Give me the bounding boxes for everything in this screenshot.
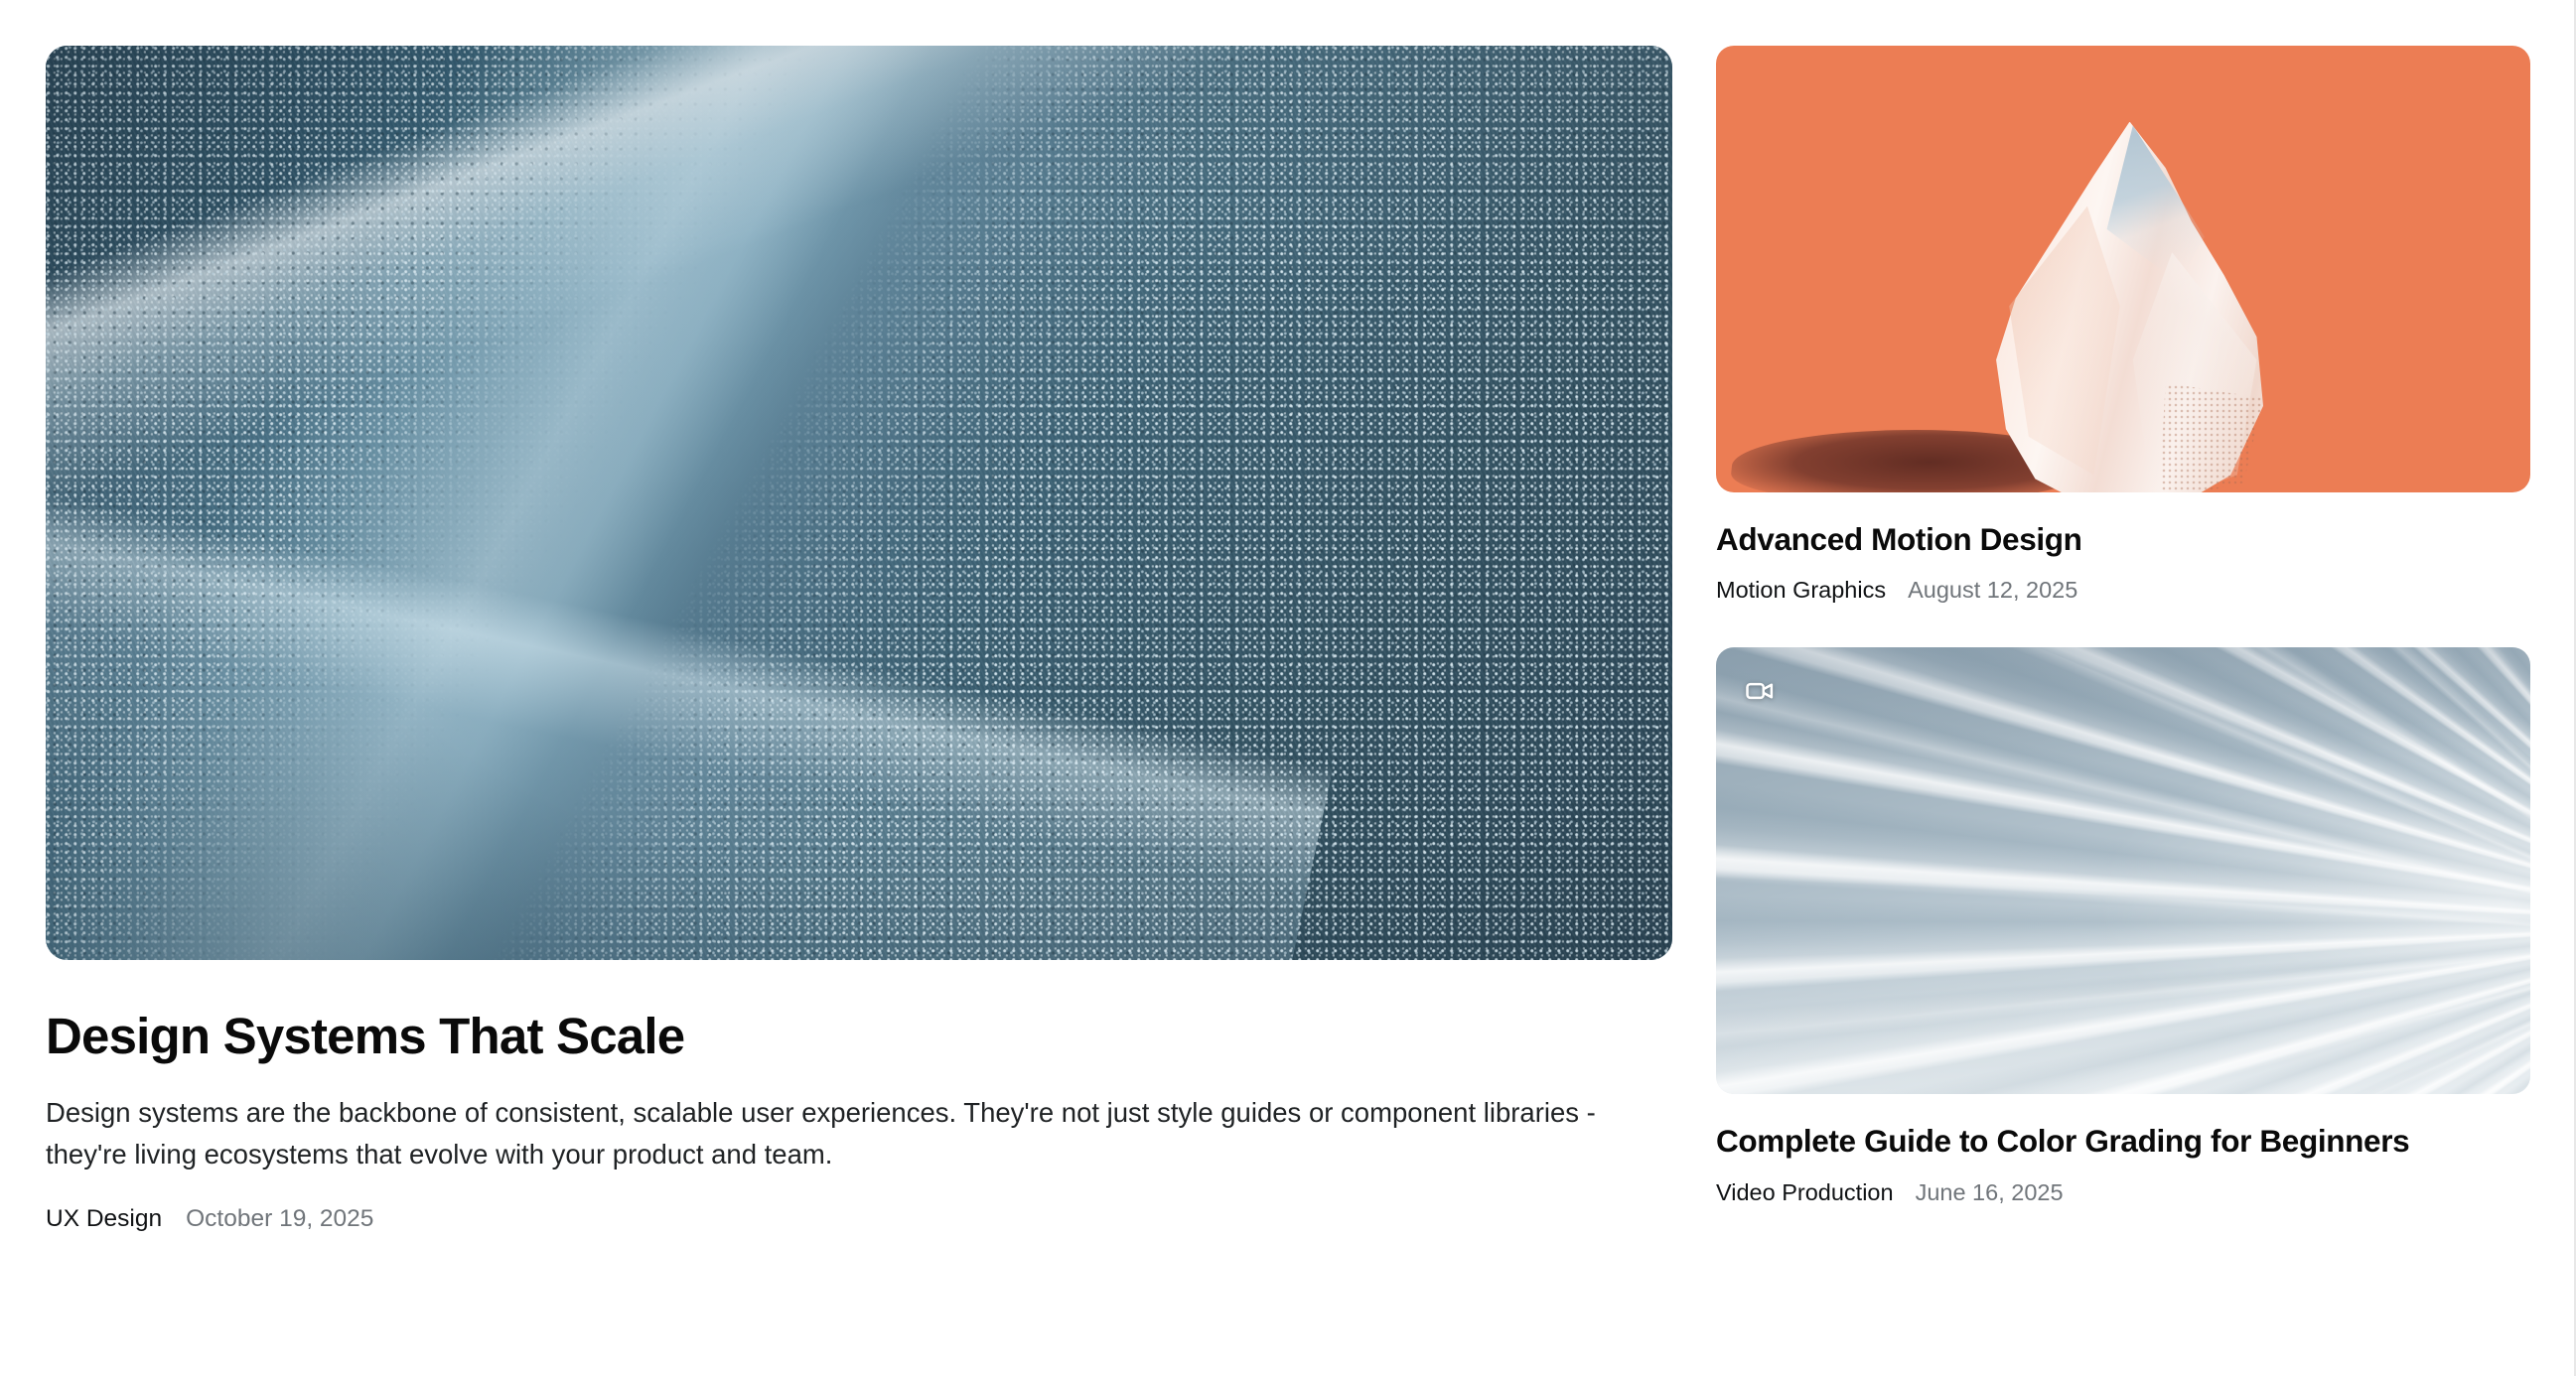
article-card-title-color-grading[interactable]: Complete Guide to Color Grading for Begi… [1716,1122,2530,1160]
featured-article-date: October 19, 2025 [186,1205,373,1233]
streak-image-glow [1716,647,2530,1094]
featured-article-category[interactable]: UX Design [46,1205,162,1233]
article-list-page: Design Systems That Scale Design systems… [0,0,2576,1376]
featured-article-card[interactable]: Design Systems That Scale Design systems… [46,46,1672,1233]
featured-article-title[interactable]: Design Systems That Scale [46,1008,1672,1064]
featured-article-image[interactable] [46,46,1672,960]
article-card-image-color-grading[interactable] [1716,647,2530,1094]
article-card-category-color-grading[interactable]: Video Production [1716,1179,1894,1206]
article-card-meta-color-grading: Video Production June 16, 2025 [1716,1179,2530,1206]
article-card-date-color-grading: June 16, 2025 [1916,1179,2064,1206]
featured-image-vignette [46,46,1672,960]
featured-article-meta: UX Design October 19, 2025 [46,1205,1672,1233]
article-card-color-grading[interactable]: Complete Guide to Color Grading for Begi… [1716,647,2530,1205]
article-card-date-motion-design: August 12, 2025 [1908,577,2077,604]
video-camera-icon [1742,673,1778,709]
article-card-motion-design[interactable]: Advanced Motion Design Motion Graphics A… [1716,46,2530,604]
article-card-image-motion-design[interactable] [1716,46,2530,492]
related-articles-list: Advanced Motion Design Motion Graphics A… [1716,46,2530,1206]
article-card-meta-motion-design: Motion Graphics August 12, 2025 [1716,577,2530,604]
article-card-category-motion-design[interactable]: Motion Graphics [1716,577,1886,604]
article-card-title-motion-design[interactable]: Advanced Motion Design [1716,520,2530,558]
featured-article-excerpt: Design systems are the backbone of consi… [46,1092,1654,1175]
